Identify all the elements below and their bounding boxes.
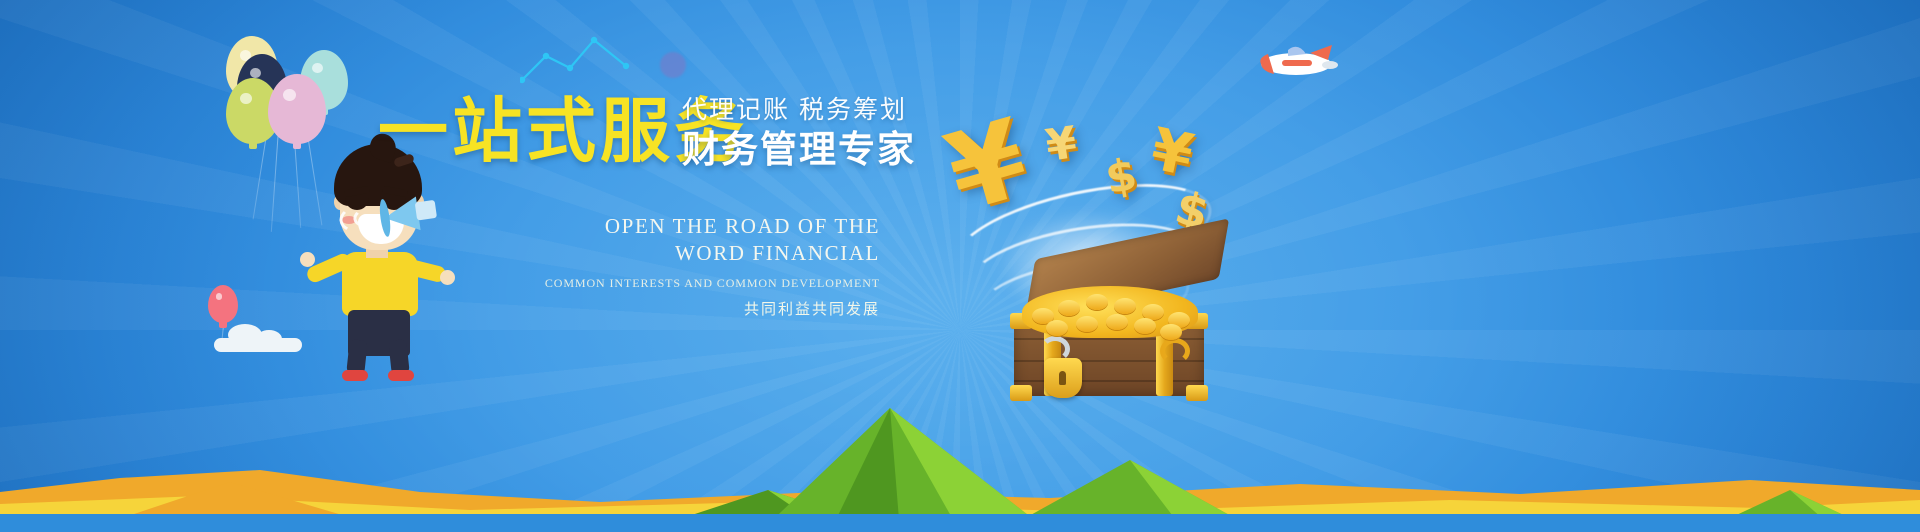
tagline-group: OPEN THE ROAD OF THE WORD FINANCIAL COMM… xyxy=(537,213,880,319)
small-balloon-icon xyxy=(208,285,238,323)
mountains-icon xyxy=(0,342,1920,532)
yen-symbol-icon: ¥ xyxy=(1043,121,1079,169)
balloon-pink xyxy=(268,74,326,144)
tagline-chinese: 共同利益共同发展 xyxy=(537,298,880,319)
yen-symbol-icon: ¥ xyxy=(937,105,1039,230)
boy-mascot-icon xyxy=(290,140,450,340)
mascot-hand xyxy=(300,252,315,267)
megaphone-icon xyxy=(375,180,452,243)
subheadline-expert: 财务管理专家 xyxy=(682,129,916,172)
decorative-dot xyxy=(660,52,686,78)
chart-line-icon xyxy=(520,36,630,84)
tagline-english-primary: OPEN THE ROAD OF THE WORD FINANCIAL xyxy=(537,213,880,268)
gold-coins-icon xyxy=(1022,286,1198,338)
tagline-english-secondary: COMMON INTERESTS AND COMMON DEVELOPMENT xyxy=(537,276,880,291)
yen-symbol-icon: ¥ xyxy=(1146,119,1198,184)
mascot-hand xyxy=(440,270,455,285)
airplane-icon xyxy=(1252,38,1338,82)
subheadline-services: 代理记账 税务筹划 xyxy=(682,95,916,125)
finance-service-banner: ¥ ¥ ¥ $ $ ¥ $ ¥ xyxy=(0,0,1920,532)
subheadline-group: 代理记账 税务筹划 财务管理专家 xyxy=(682,95,916,172)
dollar-symbol-icon: $ xyxy=(1102,153,1140,202)
